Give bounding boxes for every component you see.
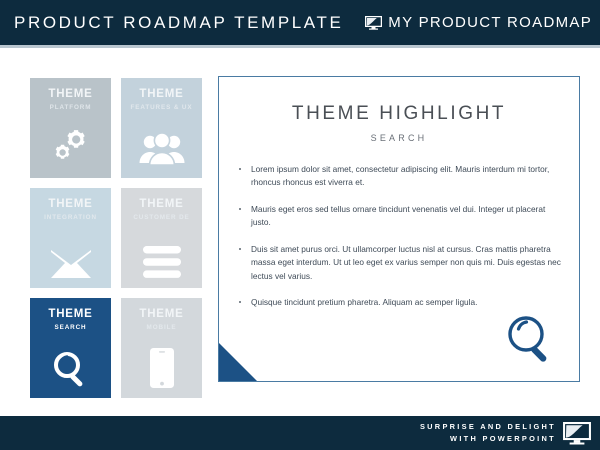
- header-divider: [0, 45, 600, 48]
- list-lines-icon: [121, 246, 202, 278]
- list-item: Mauris eget eros sed tellus ornare tinci…: [237, 203, 563, 230]
- theme-tile-customer-de[interactable]: THEME CUSTOMER DE: [121, 188, 202, 288]
- theme-tile-mobile[interactable]: THEME MOBILE: [121, 298, 202, 398]
- theme-tile-features-ux[interactable]: THEME FEATURES & UX: [121, 78, 202, 178]
- app-footer: SURPRISE AND DELIGHT WITH POWERPOINT: [0, 416, 600, 450]
- gears-icon: [30, 126, 111, 168]
- mobile-phone-icon: [121, 348, 202, 388]
- magnifier-icon: [505, 313, 557, 365]
- footer-tagline-line1: SURPRISE AND DELIGHT: [420, 421, 556, 433]
- tile-title: THEME: [139, 89, 183, 101]
- tile-title: THEME: [48, 199, 92, 211]
- panel-title: THEME HIGHLIGHT: [219, 103, 579, 125]
- list-item: Lorem ipsum dolor sit amet, consectetur …: [237, 163, 563, 190]
- tile-title: THEME: [48, 309, 92, 321]
- footer-tagline: SURPRISE AND DELIGHT WITH POWERPOINT: [420, 421, 556, 445]
- panel-subtitle: SEARCH: [219, 133, 579, 143]
- tile-title: THEME: [48, 89, 92, 101]
- tile-title: THEME: [139, 199, 183, 211]
- tile-subtitle: PLATFORM: [50, 105, 92, 111]
- monitor-icon: [562, 422, 592, 445]
- theme-tile-integration[interactable]: THEME INTEGRATION: [30, 188, 111, 288]
- envelope-icon: [30, 250, 111, 278]
- page-title: PRODUCT ROADMAP TEMPLATE: [0, 13, 343, 33]
- monitor-icon: [365, 16, 382, 30]
- tile-subtitle: SEARCH: [55, 325, 87, 331]
- brand-label: MY PRODUCT ROADMAP: [388, 14, 592, 31]
- theme-highlight-panel: THEME HIGHLIGHT SEARCH Lorem ipsum dolor…: [218, 76, 580, 382]
- panel-bullet-list: Lorem ipsum dolor sit amet, consectetur …: [237, 163, 563, 310]
- people-icon: [121, 130, 202, 168]
- tile-subtitle: CUSTOMER DE: [133, 215, 189, 221]
- theme-tile-grid: THEME PLATFORM THEME FEATURES & UX: [30, 78, 202, 398]
- app-header: PRODUCT ROADMAP TEMPLATE MY PRODUCT ROAD…: [0, 0, 600, 45]
- list-item: Duis sit amet purus orci. Ut ullamcorper…: [237, 243, 563, 283]
- header-brand-group: MY PRODUCT ROADMAP: [365, 0, 592, 45]
- corner-triangle: [219, 343, 257, 381]
- theme-tile-platform[interactable]: THEME PLATFORM: [30, 78, 111, 178]
- tile-subtitle: MOBILE: [147, 325, 177, 331]
- magnifier-icon: [30, 350, 111, 388]
- footer-tagline-line2: WITH POWERPOINT: [420, 433, 556, 445]
- tile-subtitle: INTEGRATION: [44, 215, 97, 221]
- theme-tile-search[interactable]: THEME SEARCH: [30, 298, 111, 398]
- list-item: Quisque tincidunt pretium pharetra. Aliq…: [237, 296, 563, 309]
- tile-title: THEME: [139, 309, 183, 321]
- tile-subtitle: FEATURES & UX: [131, 105, 193, 111]
